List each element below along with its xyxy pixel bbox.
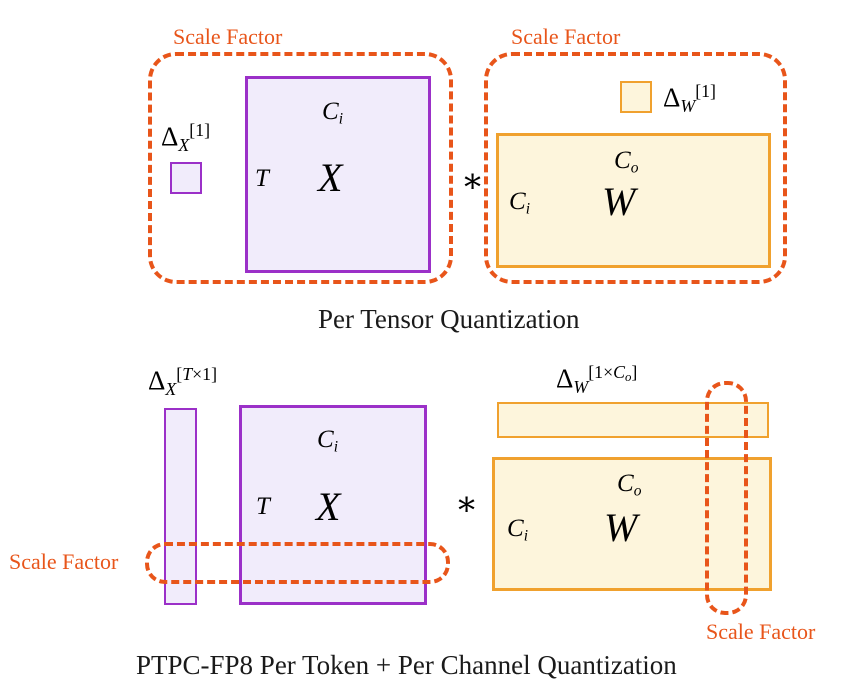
top-delta-x-label: ΔX[1] (161, 122, 210, 155)
col-dim-subscript: i (339, 110, 343, 127)
top-w-row-dim-label: Ci (509, 189, 530, 217)
delta-glyph: Δ (556, 363, 573, 393)
top-delta-w-label: ΔW[1] (663, 83, 716, 116)
top-left-scale-factor-label: Scale Factor (173, 26, 282, 48)
top-x-col-dim-label: Ci (322, 99, 343, 127)
top-activation-scale-square (170, 162, 202, 194)
top-multiply-operator: ∗ (461, 165, 484, 199)
bottom-w-matrix-name: W (604, 508, 637, 548)
row-dim-subscript: i (526, 200, 530, 217)
col-dim-symbol: C (322, 98, 339, 125)
bottom-x-row-dim-label: T (256, 494, 270, 519)
bottom-left-scale-factor-label: Scale Factor (9, 551, 118, 573)
delta-superscript: [1] (189, 120, 210, 140)
sup-dim2: 1 (202, 364, 211, 384)
row-dim-symbol: T (255, 165, 269, 192)
sup-times: × (603, 362, 613, 382)
delta-superscript: [T×1] (176, 364, 217, 384)
bottom-delta-w-label: ΔW[1×Co] (556, 364, 637, 397)
delta-subscript: X (178, 135, 189, 155)
bottom-right-scale-factor-label: Scale Factor (706, 621, 815, 643)
col-dim-subscript: o (634, 482, 642, 499)
top-x-row-dim-label: T (255, 166, 269, 191)
delta-superscript: [1×Co] (588, 362, 637, 382)
bottom-delta-x-label: ΔX[T×1] (148, 366, 217, 399)
sup-dim1: T (182, 364, 192, 384)
bottom-weight-scale-factor-region (705, 381, 748, 615)
sup-dim2: C (613, 362, 625, 382)
row-dim-symbol: T (256, 493, 270, 520)
delta-subscript: W (573, 377, 588, 397)
sup-close: ] (631, 362, 637, 382)
top-weight-scale-square (620, 81, 652, 113)
delta-subscript: X (165, 379, 176, 399)
bottom-section-caption: PTPC-FP8 Per Token + Per Channel Quantiz… (136, 652, 677, 679)
row-dim-symbol: C (509, 188, 526, 215)
delta-glyph: Δ (663, 82, 680, 112)
delta-glyph: Δ (148, 365, 165, 395)
col-dim-symbol: C (614, 147, 631, 174)
top-right-scale-factor-label: Scale Factor (511, 26, 620, 48)
sup-times: × (192, 364, 202, 384)
row-dim-subscript: i (524, 527, 528, 544)
delta-glyph: Δ (161, 121, 178, 151)
bottom-x-matrix-name: X (316, 487, 340, 527)
top-w-col-dim-label: Co (614, 148, 638, 176)
col-dim-symbol: C (617, 470, 634, 497)
sup-dim1: 1 (594, 362, 603, 382)
col-dim-subscript: i (334, 438, 338, 455)
top-w-matrix-name: W (602, 182, 635, 222)
row-dim-symbol: C (507, 515, 524, 542)
bottom-multiply-operator: ∗ (455, 488, 478, 522)
top-section-caption: Per Tensor Quantization (318, 306, 580, 333)
bottom-w-col-dim-label: Co (617, 471, 641, 499)
delta-subscript: W (680, 96, 695, 116)
col-dim-subscript: o (631, 159, 639, 176)
col-dim-symbol: C (317, 426, 334, 453)
bottom-w-row-dim-label: Ci (507, 516, 528, 544)
bottom-x-col-dim-label: Ci (317, 427, 338, 455)
bottom-activation-scale-factor-region (145, 542, 450, 584)
sup-close: ] (211, 364, 217, 384)
delta-superscript: [1] (695, 81, 716, 101)
quantization-diagram: Scale Factor ΔX[1] Ci T X ∗ Scale Factor… (0, 0, 855, 693)
top-x-matrix-name: X (318, 158, 342, 198)
